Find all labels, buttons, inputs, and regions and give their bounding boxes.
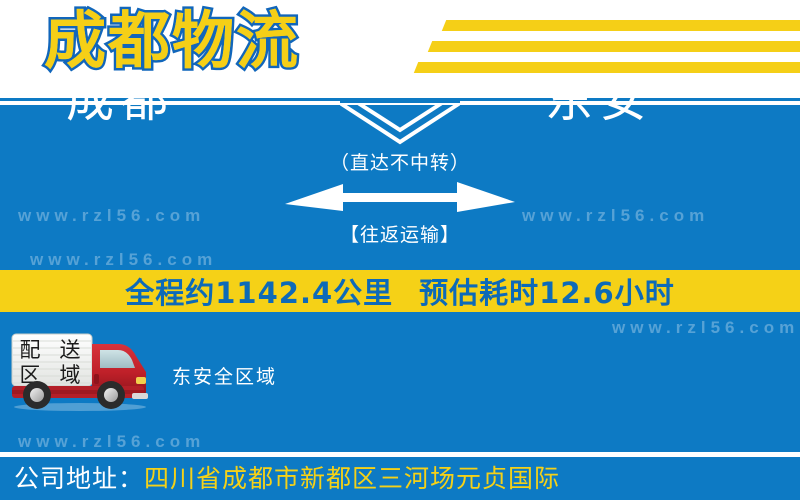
roundtrip-note: 【往返运输】	[290, 220, 510, 247]
watermark-4: www.rzl56.com	[612, 318, 799, 338]
direct-shipping-note: （直达不中转）	[290, 148, 510, 175]
address-value: 四川省成都市新都区三河场元贞国际	[144, 464, 560, 493]
double-chevron-down-icon	[340, 98, 460, 150]
company-address: 公司地址：四川省成都市新都区三河场元贞国际	[14, 463, 560, 495]
duration-text: 预估耗时12.6小时	[419, 270, 675, 312]
watermark-1: www.rzl56.com	[18, 206, 205, 226]
watermark-2: www.rzl56.com	[522, 206, 709, 226]
truck-box-char-4: 域	[60, 363, 81, 387]
truck-box-char-1: 配	[20, 338, 41, 362]
destination-city: 东安	[545, 72, 653, 128]
delivery-area-text: 东安全区域	[172, 362, 277, 389]
stripe-2	[428, 41, 800, 52]
stats-band-content: 全程约1142.4公里 预估耗时12.6小时	[0, 270, 800, 312]
footer-bar: 公司地址：四川省成都市新都区三河场元贞国际	[0, 457, 800, 500]
delivery-truck-icon: 配 送 区 域	[8, 330, 153, 412]
bidirectional-arrow-icon	[285, 180, 515, 214]
page-title: 成都物流	[44, 4, 300, 78]
origin-city: 成都	[66, 72, 174, 128]
logistics-route-banner: 成都物流 成都物流 www.rzl56.com www.rzl56.com （直…	[0, 0, 800, 500]
stripe-1	[442, 20, 800, 31]
address-label: 公司地址：	[14, 464, 144, 493]
truck-box-char-2: 送	[60, 338, 81, 362]
distance-text: 全程约1142.4公里	[125, 270, 393, 312]
stats-band: 全程约1142.4公里 预估耗时12.6小时	[0, 270, 800, 312]
delivery-area-panel: 配 送 区 域 www.rzl56.com	[0, 312, 800, 452]
